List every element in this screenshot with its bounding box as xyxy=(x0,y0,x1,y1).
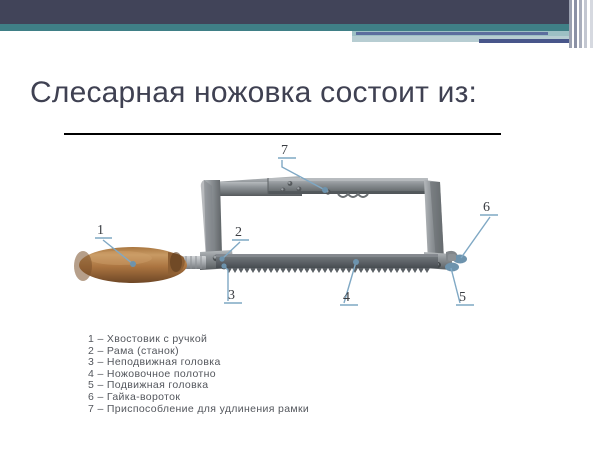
callout-label-1: 1 xyxy=(97,223,104,238)
callout-label-7: 7 xyxy=(281,143,288,158)
slide-root: Слесарная ножовка состоит из: xyxy=(0,0,600,450)
header-white-cutout xyxy=(0,31,352,50)
title-underline-rule xyxy=(64,133,501,135)
callout-label-4: 4 xyxy=(343,290,350,305)
header-blue-line-upper xyxy=(356,32,548,35)
hacksaw-diagram: 1 2 3 4 5 6 7 xyxy=(0,140,600,325)
legend-item-7: 7 – Приспособление для удлинения рамки xyxy=(88,404,508,416)
legend-list: 1 – Хвостовик с ручкой 2 – Рама (станок)… xyxy=(88,334,508,415)
header-navy-band xyxy=(0,0,600,24)
header-teal-band xyxy=(0,24,600,31)
header-vertical-stripe-10 xyxy=(593,0,600,48)
header-vertical-stripes xyxy=(569,0,600,48)
frame-left-arm xyxy=(201,180,222,258)
frame-top-bar xyxy=(212,176,428,197)
legend-item-1: 1 – Хвостовик с ручкой xyxy=(88,334,508,346)
callout-label-5: 5 xyxy=(459,290,466,305)
saw-blade xyxy=(216,254,438,273)
page-title: Слесарная ножовка состоит из: xyxy=(30,76,570,110)
callout-label-6: 6 xyxy=(483,200,490,215)
frame-right-arm xyxy=(424,180,444,262)
header-blue-line-lower xyxy=(479,39,569,43)
callout-label-3: 3 xyxy=(228,288,235,303)
legend-item-6: 6 – Гайка-вороток xyxy=(88,392,508,404)
callout-label-2: 2 xyxy=(235,225,242,240)
